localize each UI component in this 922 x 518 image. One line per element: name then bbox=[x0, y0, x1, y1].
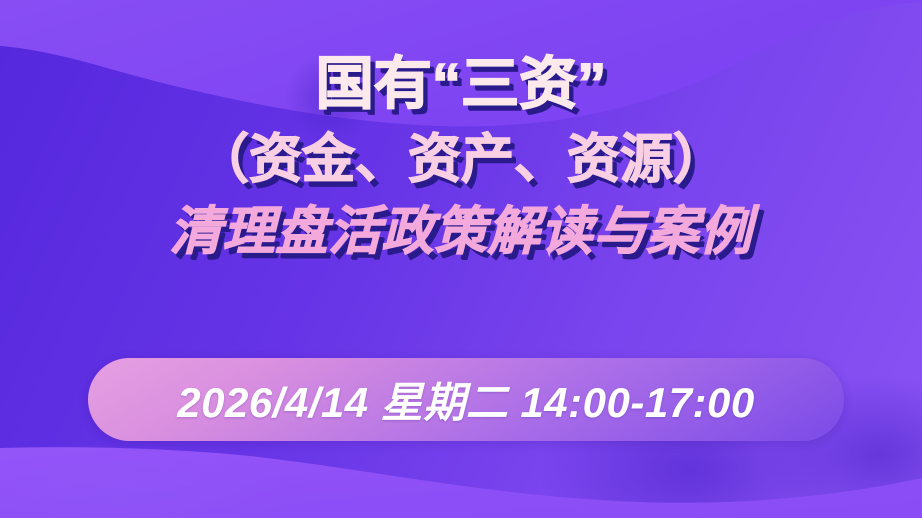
title-line-3: 清理盘活政策解读与案例 bbox=[0, 206, 922, 258]
title-line-2: （资金、资产、资源） bbox=[0, 133, 922, 186]
poster-title-block: 国有“三资” （资金、资产、资源） 清理盘活政策解读与案例 bbox=[0, 56, 922, 258]
date-time-bar: 2026/4/14 星期二 14:00-17:00 bbox=[88, 358, 844, 441]
date-time-pill: 2026/4/14 星期二 14:00-17:00 bbox=[88, 358, 844, 441]
accent-glow-bottom-left bbox=[0, 440, 320, 518]
date-time-label: 2026/4/14 星期二 14:00-17:00 bbox=[177, 369, 755, 430]
webinar-title-poster: 国有“三资” （资金、资产、资源） 清理盘活政策解读与案例 2026/4/14 … bbox=[0, 0, 922, 518]
wave-bottom bbox=[0, 447, 922, 518]
title-line-1: 国有“三资” bbox=[0, 56, 922, 113]
